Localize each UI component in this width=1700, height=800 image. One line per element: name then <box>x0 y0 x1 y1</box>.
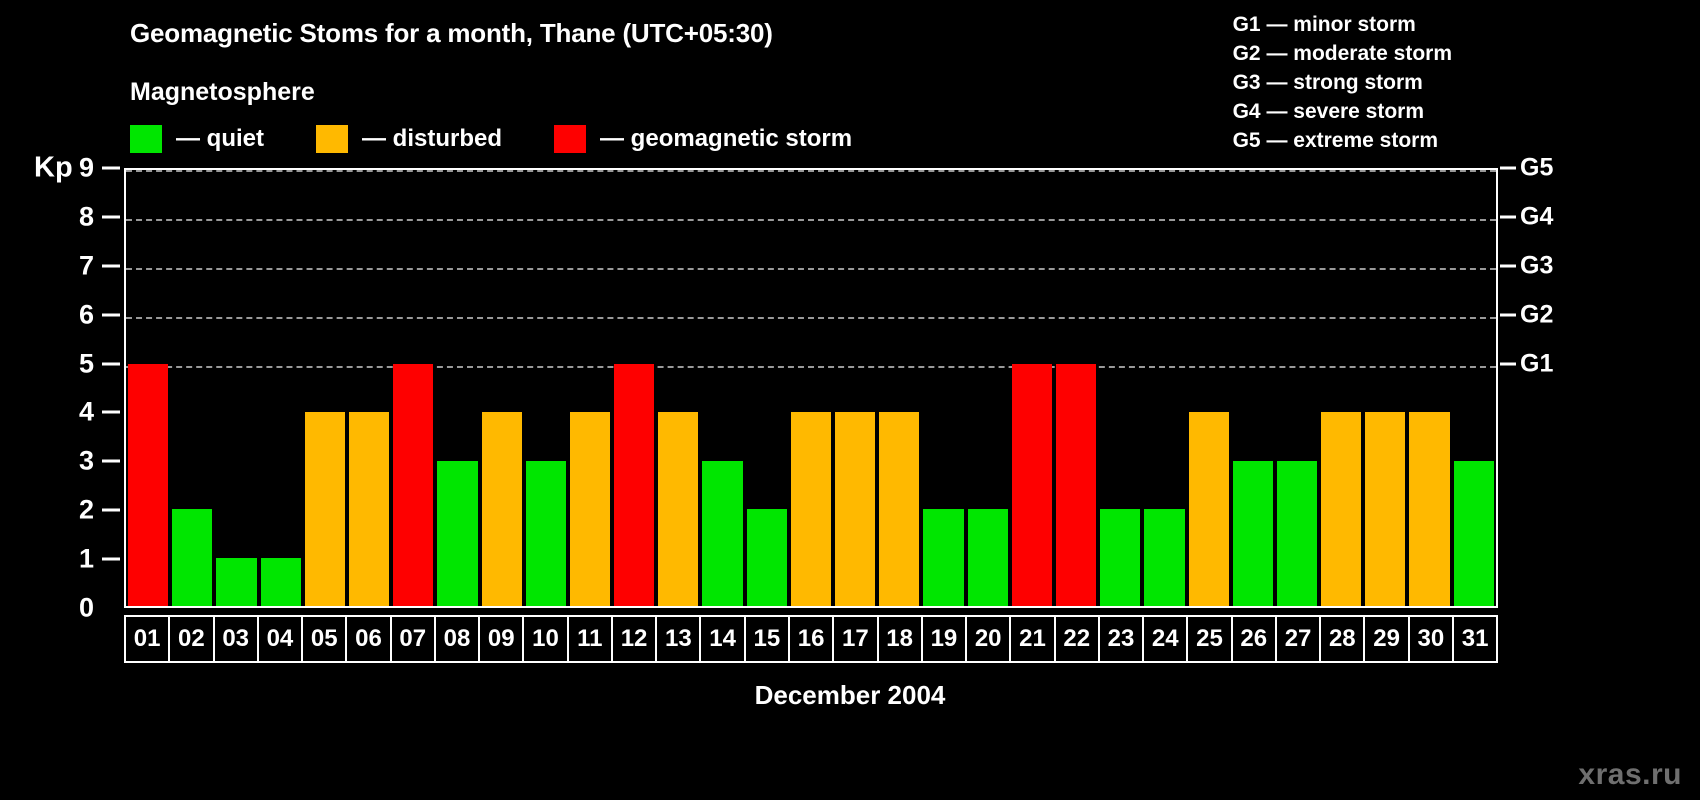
bar-cell-day-16[interactable] <box>789 170 833 606</box>
bar-cell-day-04[interactable] <box>259 170 303 606</box>
y-tick-mark-3 <box>102 460 120 463</box>
x-day-label-06[interactable]: 06 <box>347 617 391 661</box>
x-day-label-15[interactable]: 15 <box>746 617 790 661</box>
bar-cell-day-21[interactable] <box>1010 170 1054 606</box>
legend: — quiet— disturbed— geomagnetic storm <box>130 124 904 154</box>
x-day-label-23[interactable]: 23 <box>1100 617 1144 661</box>
x-day-label-07[interactable]: 07 <box>392 617 436 661</box>
legend-swatch-quiet <box>130 125 162 153</box>
bar-day-10[interactable] <box>526 461 566 606</box>
gscale-line-3: G3 — strong storm <box>1233 68 1452 97</box>
x-day-label-14[interactable]: 14 <box>701 617 745 661</box>
g-tick-mark-G5 <box>1500 167 1516 170</box>
bar-day-08[interactable] <box>437 461 477 606</box>
bar-day-27[interactable] <box>1277 461 1317 606</box>
y-tick-mark-8 <box>102 215 120 218</box>
page-title: Geomagnetic Stoms for a month, Thane (UT… <box>130 18 773 49</box>
y-axis-label: Kp <box>34 152 73 185</box>
x-day-label-26[interactable]: 26 <box>1233 617 1277 661</box>
bar-day-28[interactable] <box>1321 412 1361 606</box>
y-tick-label-6: 6 <box>34 299 94 330</box>
legend-label-storm: — geomagnetic storm <box>600 125 852 153</box>
bar-day-01[interactable] <box>128 364 168 606</box>
bar-cell-day-17[interactable] <box>833 170 877 606</box>
bar-cell-day-09[interactable] <box>480 170 524 606</box>
gscale-legend: G1 — minor stormG2 — moderate stormG3 — … <box>1233 10 1452 155</box>
legend-swatch-disturbed <box>316 125 348 153</box>
g-tick-mark-G2 <box>1500 313 1516 316</box>
g-tick-mark-G3 <box>1500 264 1516 267</box>
bar-day-07[interactable] <box>393 364 433 606</box>
x-day-label-08[interactable]: 08 <box>436 617 480 661</box>
bar-day-11[interactable] <box>570 412 610 606</box>
gscale-line-1: G1 — minor storm <box>1233 10 1452 39</box>
x-day-label-02[interactable]: 02 <box>170 617 214 661</box>
x-day-label-17[interactable]: 17 <box>834 617 878 661</box>
legend-swatch-storm <box>554 125 586 153</box>
bar-day-14[interactable] <box>702 461 742 606</box>
watermark: xras.ru <box>1578 758 1682 792</box>
bar-day-15[interactable] <box>747 509 787 606</box>
bar-day-26[interactable] <box>1233 461 1273 606</box>
bar-cell-day-23[interactable] <box>1098 170 1142 606</box>
x-day-label-27[interactable]: 27 <box>1277 617 1321 661</box>
bar-day-20[interactable] <box>968 509 1008 606</box>
bar-day-04[interactable] <box>261 558 301 606</box>
bar-cell-day-06[interactable] <box>347 170 391 606</box>
y-tick-label-2: 2 <box>34 495 94 526</box>
y-tick-mark-2 <box>102 509 120 512</box>
bar-cell-day-31[interactable] <box>1452 170 1496 606</box>
x-axis-title: December 2004 <box>0 680 1700 711</box>
bar-day-29[interactable] <box>1365 412 1405 606</box>
x-axis-day-labels: 0102030405060708091011121314151617181920… <box>124 615 1498 663</box>
y-tick-mark-6 <box>102 313 120 316</box>
legend-item-storm: — geomagnetic storm <box>554 125 904 153</box>
bar-cell-day-12[interactable] <box>612 170 656 606</box>
bar-day-09[interactable] <box>482 412 522 606</box>
g-tick-mark-G4 <box>1500 215 1516 218</box>
y-tick-label-4: 4 <box>34 397 94 428</box>
bar-cell-day-15[interactable] <box>745 170 789 606</box>
g-tick-mark-G1 <box>1500 362 1516 365</box>
bar-cell-day-08[interactable] <box>435 170 479 606</box>
legend-label-quiet: — quiet <box>176 125 264 153</box>
bar-cell-day-13[interactable] <box>656 170 700 606</box>
bar-cell-day-22[interactable] <box>1054 170 1098 606</box>
y-tick-label-1: 1 <box>34 544 94 575</box>
bar-day-21[interactable] <box>1012 364 1052 606</box>
y-tick-label-0: 0 <box>34 593 94 624</box>
g-tick-label-G5: G5 <box>1520 154 1553 183</box>
y-tick-mark-7 <box>102 264 120 267</box>
plot-area <box>124 168 1498 608</box>
x-day-label-25[interactable]: 25 <box>1188 617 1232 661</box>
bar-day-22[interactable] <box>1056 364 1096 606</box>
bar-day-19[interactable] <box>923 509 963 606</box>
gscale-line-5: G5 — extreme storm <box>1233 126 1452 155</box>
bar-cell-day-28[interactable] <box>1319 170 1363 606</box>
x-day-label-28[interactable]: 28 <box>1321 617 1365 661</box>
bar-day-03[interactable] <box>216 558 256 606</box>
y-tick-label-5: 5 <box>34 348 94 379</box>
bar-day-30[interactable] <box>1409 412 1449 606</box>
bar-series <box>126 170 1496 606</box>
bar-day-18[interactable] <box>879 412 919 606</box>
g-scale-axis: G1G2G3G4G5 <box>1500 168 1620 608</box>
bar-cell-day-30[interactable] <box>1407 170 1451 606</box>
x-day-label-31[interactable]: 31 <box>1454 617 1496 661</box>
y-tick-label-8: 8 <box>34 201 94 232</box>
legend-label-disturbed: — disturbed <box>362 125 502 153</box>
x-day-label-01[interactable]: 01 <box>126 617 170 661</box>
x-day-label-10[interactable]: 10 <box>524 617 568 661</box>
bar-day-05[interactable] <box>305 412 345 606</box>
bar-cell-day-27[interactable] <box>1275 170 1319 606</box>
bar-cell-day-19[interactable] <box>921 170 965 606</box>
x-day-label-20[interactable]: 20 <box>967 617 1011 661</box>
g-tick-label-G4: G4 <box>1520 202 1553 231</box>
bar-cell-day-20[interactable] <box>966 170 1010 606</box>
bar-day-16[interactable] <box>791 412 831 606</box>
x-day-label-04[interactable]: 04 <box>259 617 303 661</box>
bar-cell-day-07[interactable] <box>391 170 435 606</box>
x-day-label-18[interactable]: 18 <box>879 617 923 661</box>
x-day-label-13[interactable]: 13 <box>657 617 701 661</box>
y-tick-mark-4 <box>102 411 120 414</box>
g-tick-label-G1: G1 <box>1520 349 1553 378</box>
x-day-label-22[interactable]: 22 <box>1056 617 1100 661</box>
bar-day-24[interactable] <box>1144 509 1184 606</box>
x-day-label-19[interactable]: 19 <box>923 617 967 661</box>
bar-day-23[interactable] <box>1100 509 1140 606</box>
bar-day-13[interactable] <box>658 412 698 606</box>
x-day-label-24[interactable]: 24 <box>1144 617 1188 661</box>
x-day-label-12[interactable]: 12 <box>613 617 657 661</box>
x-day-label-05[interactable]: 05 <box>303 617 347 661</box>
x-day-label-30[interactable]: 30 <box>1410 617 1454 661</box>
y-tick-label-7: 7 <box>34 250 94 281</box>
bar-cell-day-14[interactable] <box>700 170 744 606</box>
bar-day-25[interactable] <box>1189 412 1229 606</box>
y-tick-label-3: 3 <box>34 446 94 477</box>
bar-cell-day-29[interactable] <box>1363 170 1407 606</box>
bar-cell-day-02[interactable] <box>170 170 214 606</box>
bar-day-06[interactable] <box>349 412 389 606</box>
x-day-label-29[interactable]: 29 <box>1365 617 1409 661</box>
bar-day-17[interactable] <box>835 412 875 606</box>
x-day-label-03[interactable]: 03 <box>215 617 259 661</box>
legend-heading: Magnetosphere <box>130 78 315 107</box>
gscale-line-2: G2 — moderate storm <box>1233 39 1452 68</box>
g-tick-label-G2: G2 <box>1520 300 1553 329</box>
legend-item-disturbed: — disturbed <box>316 125 554 153</box>
x-day-label-21[interactable]: 21 <box>1011 617 1055 661</box>
bar-cell-day-18[interactable] <box>877 170 921 606</box>
plot-frame <box>124 168 1498 608</box>
gscale-line-4: G4 — severe storm <box>1233 97 1452 126</box>
x-day-label-09[interactable]: 09 <box>480 617 524 661</box>
bar-cell-day-24[interactable] <box>1142 170 1186 606</box>
y-tick-mark-9 <box>102 167 120 170</box>
bar-day-12[interactable] <box>614 364 654 606</box>
bar-cell-day-05[interactable] <box>303 170 347 606</box>
bar-cell-day-11[interactable] <box>568 170 612 606</box>
bar-day-31[interactable] <box>1454 461 1494 606</box>
y-tick-mark-1 <box>102 558 120 561</box>
bar-cell-day-01[interactable] <box>126 170 170 606</box>
x-day-label-16[interactable]: 16 <box>790 617 834 661</box>
y-tick-mark-5 <box>102 362 120 365</box>
bar-cell-day-10[interactable] <box>524 170 568 606</box>
bar-cell-day-03[interactable] <box>214 170 258 606</box>
x-day-label-11[interactable]: 11 <box>569 617 613 661</box>
bar-cell-day-25[interactable] <box>1187 170 1231 606</box>
legend-item-quiet: — quiet <box>130 125 316 153</box>
bar-day-02[interactable] <box>172 509 212 606</box>
g-tick-label-G3: G3 <box>1520 251 1553 280</box>
y-axis: 0123456789 <box>0 168 120 608</box>
bar-cell-day-26[interactable] <box>1231 170 1275 606</box>
